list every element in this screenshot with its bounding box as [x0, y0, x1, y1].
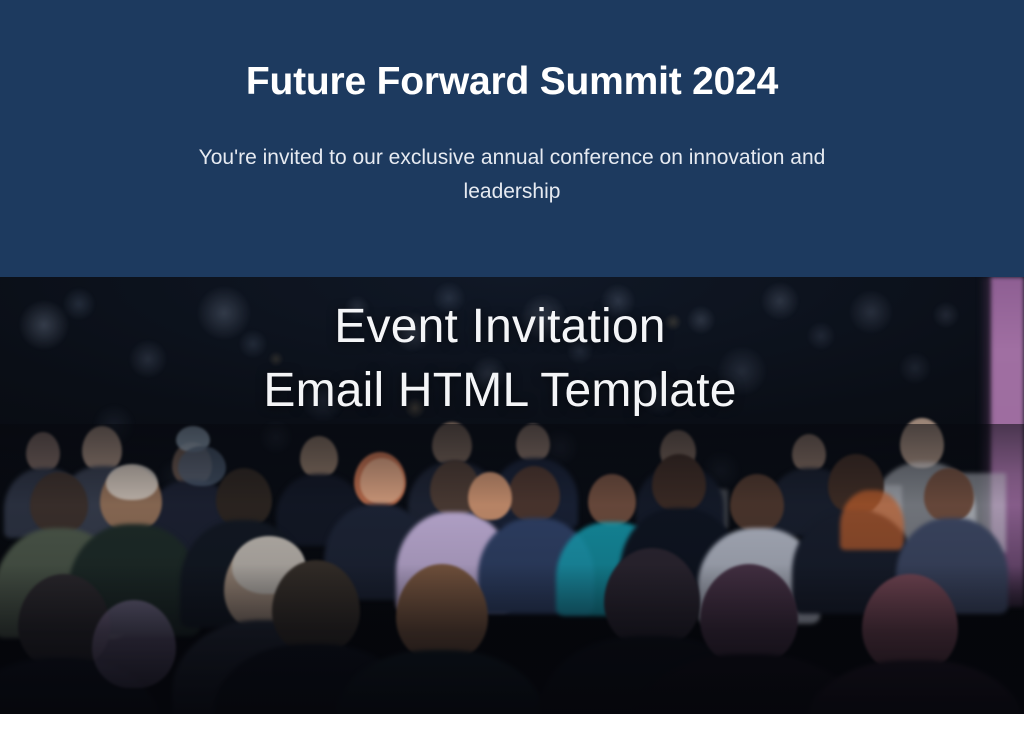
- hero-photo: Event Invitation Email HTML Template: [0, 277, 1024, 714]
- email-template-canvas: Future Forward Summit 2024 You're invite…: [0, 0, 1024, 737]
- header-subtitle: You're invited to our exclusive annual c…: [162, 141, 862, 209]
- email-bottom-spacer: [0, 714, 1024, 737]
- page-title: Future Forward Summit 2024: [246, 62, 778, 101]
- email-header-band: Future Forward Summit 2024 You're invite…: [0, 0, 1024, 277]
- audience-crowd: [0, 424, 1024, 714]
